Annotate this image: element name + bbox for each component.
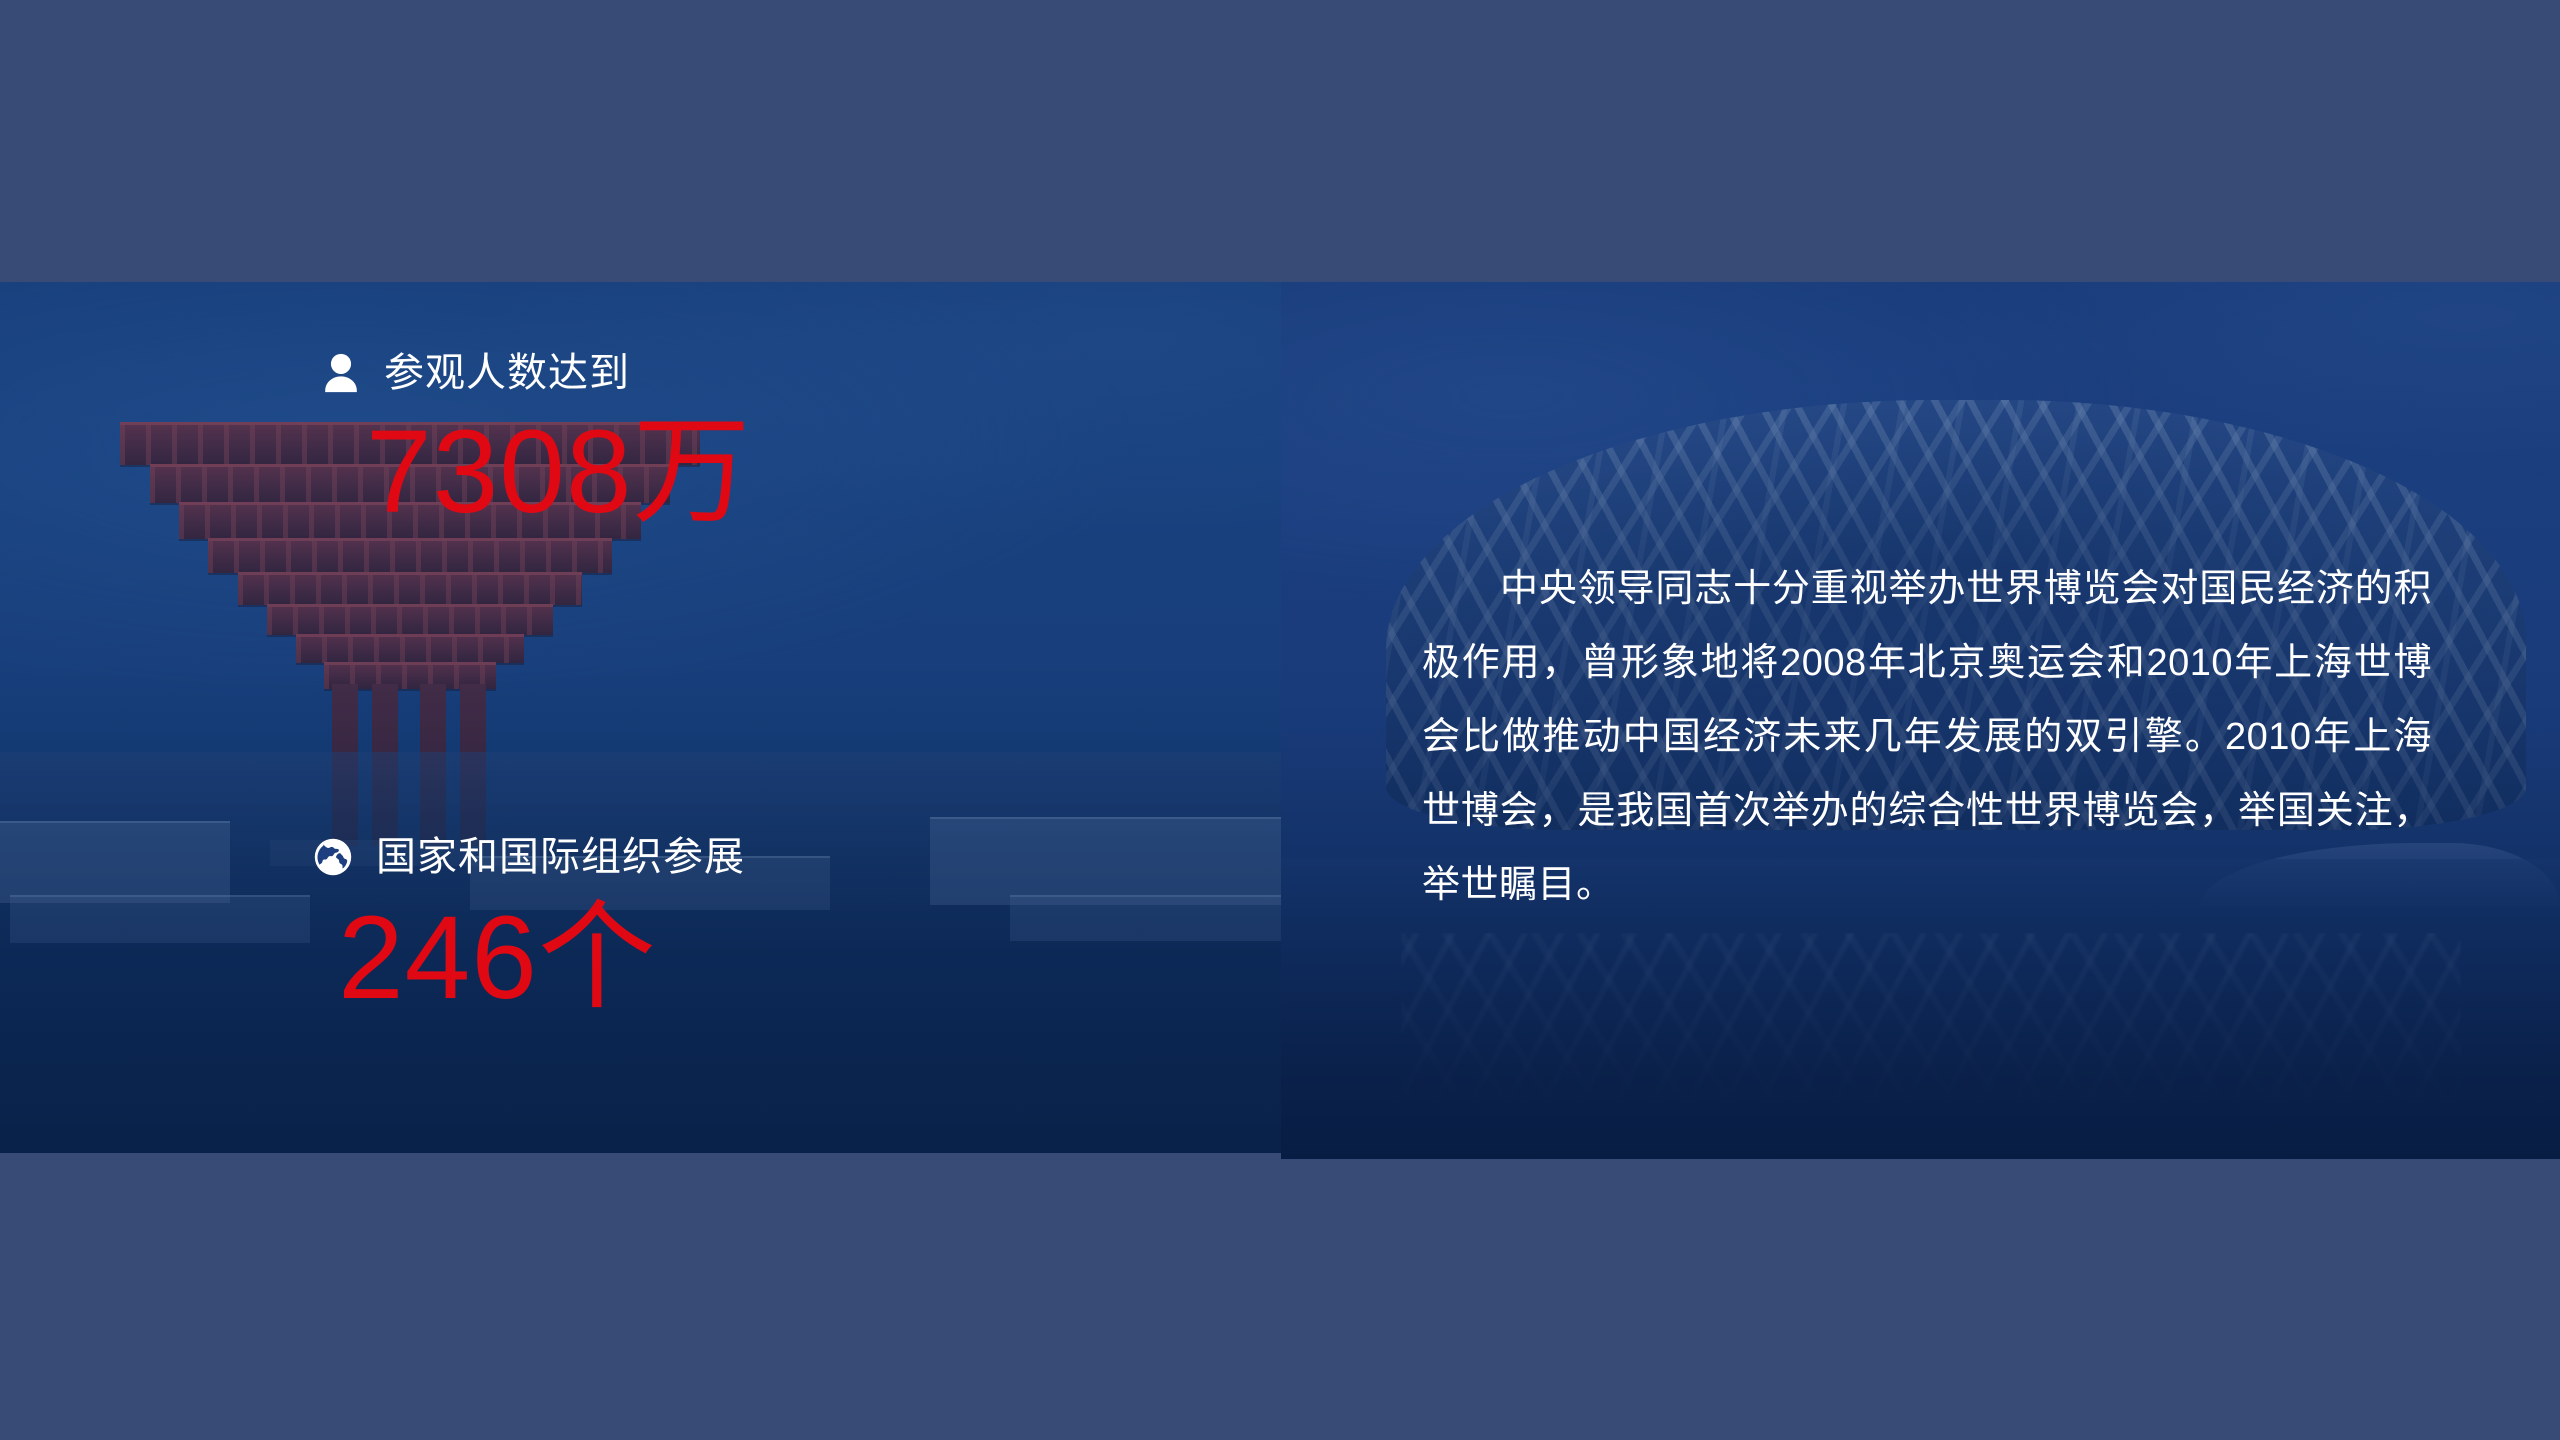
background-building bbox=[1010, 895, 1281, 941]
stat-countries-value: 246个 bbox=[338, 898, 745, 1018]
background-building bbox=[10, 895, 310, 943]
pavilion-roof-layer bbox=[208, 538, 612, 573]
stat-visitors-head: 参观人数达到 bbox=[318, 350, 752, 396]
globe-icon bbox=[310, 834, 356, 880]
stat-visitors-value: 7308万 bbox=[366, 412, 752, 532]
water-reflection-decoration bbox=[1401, 933, 2461, 1143]
stat-visitors: 参观人数达到 7308万 bbox=[318, 350, 752, 532]
background-building bbox=[930, 817, 1281, 905]
expo-description-panel: 中央领导同志十分重视举办世界博览会对国民经济的积极作用，曾形象地将2008年北京… bbox=[1281, 282, 2560, 1159]
stat-countries-head: 国家和国际组织参展 bbox=[310, 834, 745, 880]
stat-countries: 国家和国际组织参展 246个 bbox=[310, 834, 745, 1018]
china-pavilion-stats-panel: 参观人数达到 7308万 国家和国际组织参展 246个 bbox=[0, 282, 1281, 1153]
stat-countries-label: 国家和国际组织参展 bbox=[376, 834, 745, 880]
pavilion-roof-layer bbox=[238, 572, 582, 605]
content-band: 参观人数达到 7308万 国家和国际组织参展 246个 bbox=[0, 282, 2560, 1159]
background-building bbox=[0, 821, 230, 903]
pavilion-roof-layer bbox=[267, 604, 553, 635]
expo-description-text: 中央领导同志十分重视举办世界博览会对国民经济的积极作用，曾形象地将2008年北京… bbox=[1422, 552, 2432, 922]
person-icon bbox=[318, 350, 364, 396]
stat-visitors-label: 参观人数达到 bbox=[384, 350, 630, 396]
slide-canvas: 参观人数达到 7308万 国家和国际组织参展 246个 bbox=[0, 0, 2560, 1440]
pavilion-roof-layer bbox=[296, 634, 524, 663]
